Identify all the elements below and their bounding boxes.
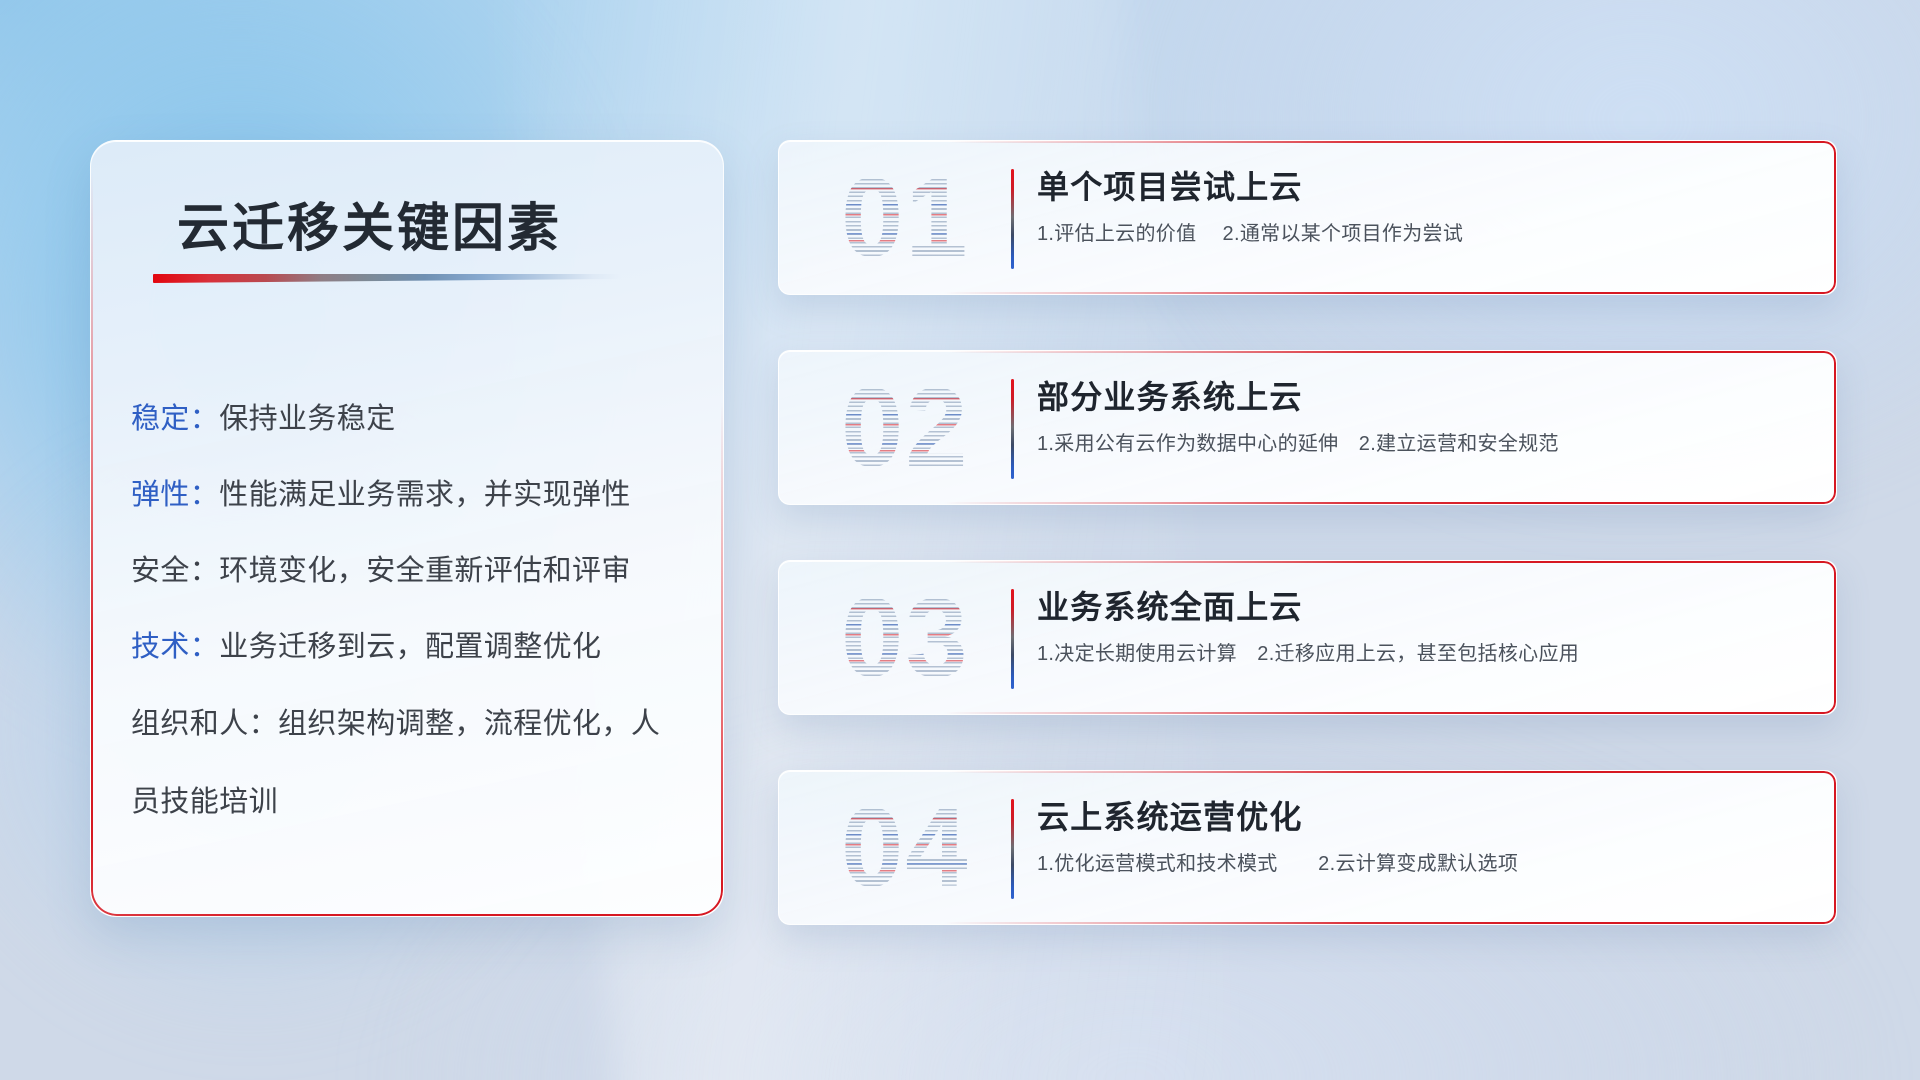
accent-bar-icon <box>1011 589 1014 689</box>
title-underline-accent <box>153 274 621 283</box>
stage-number: 02 <box>841 372 970 484</box>
list-item-tag: 弹性： <box>131 479 219 511</box>
list-item-tag: 安全： <box>131 555 219 587</box>
stage-card-03[interactable]: 03 03 业务系统全面上云 1.决定长期使用云计算 2.迁移应用上云，甚至包括… <box>778 560 1837 715</box>
accent-bar-icon <box>1011 799 1014 899</box>
list-item: 安全：环境变化，安全重新评估和评审 <box>131 533 689 609</box>
stage-card-04[interactable]: 04 04 云上系统运营优化 1.优化运营模式和技术模式 2.云计算变成默认选项 <box>778 770 1837 925</box>
list-item-tag: 技术： <box>131 631 219 663</box>
list-item-text: 性能满足业务需求，并实现弹性 <box>219 479 631 511</box>
stage-number: 03 <box>841 582 970 694</box>
stage-number-wrap: 01 01 <box>819 141 1009 294</box>
list-item-text: 环境变化，安全重新评估和评审 <box>219 555 631 587</box>
stage-card-subtitle: 1.优化运营模式和技术模式 2.云计算变成默认选项 <box>1037 847 1812 876</box>
stage-card-title: 单个项目尝试上云 <box>1037 167 1812 207</box>
stage-card-body: 云上系统运营优化 1.优化运营模式和技术模式 2.云计算变成默认选项 <box>1037 797 1812 876</box>
page-title: 云迁移关键因素 <box>177 186 562 261</box>
list-item-tag: 稳定： <box>131 403 219 435</box>
list-item-text: 业务迁移到云，配置调整优化 <box>219 631 601 663</box>
list-item: 组织和人：组织架构调整，流程优化，人员技能培训 <box>131 685 689 841</box>
stage-card-title: 业务系统全面上云 <box>1037 587 1812 627</box>
stage-number: 04 <box>841 792 970 904</box>
list-item-tag: 组织和人： <box>131 708 278 740</box>
stage-card-subtitle: 1.评估上云的价值 2.通常以某个项目作为尝试 <box>1037 217 1812 246</box>
list-item-text: 保持业务稳定 <box>219 403 395 435</box>
stage-number-wrap: 04 04 <box>819 771 1009 924</box>
list-item: 稳定：保持业务稳定 <box>131 381 689 457</box>
stage-number-wrap: 02 02 <box>819 351 1009 504</box>
stage-card-02[interactable]: 02 02 部分业务系统上云 1.采用公有云作为数据中心的延伸 2.建立运营和安… <box>778 350 1837 505</box>
key-factors-panel: 云迁移关键因素 稳定：保持业务稳定 弹性：性能满足业务需求，并实现弹性 安全：环… <box>90 140 724 917</box>
stage-number: 01 <box>841 162 970 274</box>
stage-card-subtitle: 1.采用公有云作为数据中心的延伸 2.建立运营和安全规范 <box>1037 427 1812 456</box>
stage-card-body: 业务系统全面上云 1.决定长期使用云计算 2.迁移应用上云，甚至包括核心应用 <box>1037 587 1812 666</box>
stage-card-01[interactable]: 01 01 单个项目尝试上云 1.评估上云的价值 2.通常以某个项目作为尝试 <box>778 140 1837 295</box>
key-factors-list: 稳定：保持业务稳定 弹性：性能满足业务需求，并实现弹性 安全：环境变化，安全重新… <box>131 381 689 841</box>
list-item: 技术：业务迁移到云，配置调整优化 <box>131 609 689 685</box>
stage-card-body: 部分业务系统上云 1.采用公有云作为数据中心的延伸 2.建立运营和安全规范 <box>1037 377 1812 456</box>
stage-card-subtitle: 1.决定长期使用云计算 2.迁移应用上云，甚至包括核心应用 <box>1037 637 1812 666</box>
slide-stage: 云迁移关键因素 稳定：保持业务稳定 弹性：性能满足业务需求，并实现弹性 安全：环… <box>0 0 1920 1080</box>
accent-bar-icon <box>1011 169 1014 269</box>
accent-bar-icon <box>1011 379 1014 479</box>
stage-card-body: 单个项目尝试上云 1.评估上云的价值 2.通常以某个项目作为尝试 <box>1037 167 1812 246</box>
stage-card-title: 云上系统运营优化 <box>1037 797 1812 837</box>
stage-number-wrap: 03 03 <box>819 561 1009 714</box>
list-item: 弹性：性能满足业务需求，并实现弹性 <box>131 457 689 533</box>
stage-card-title: 部分业务系统上云 <box>1037 377 1812 417</box>
